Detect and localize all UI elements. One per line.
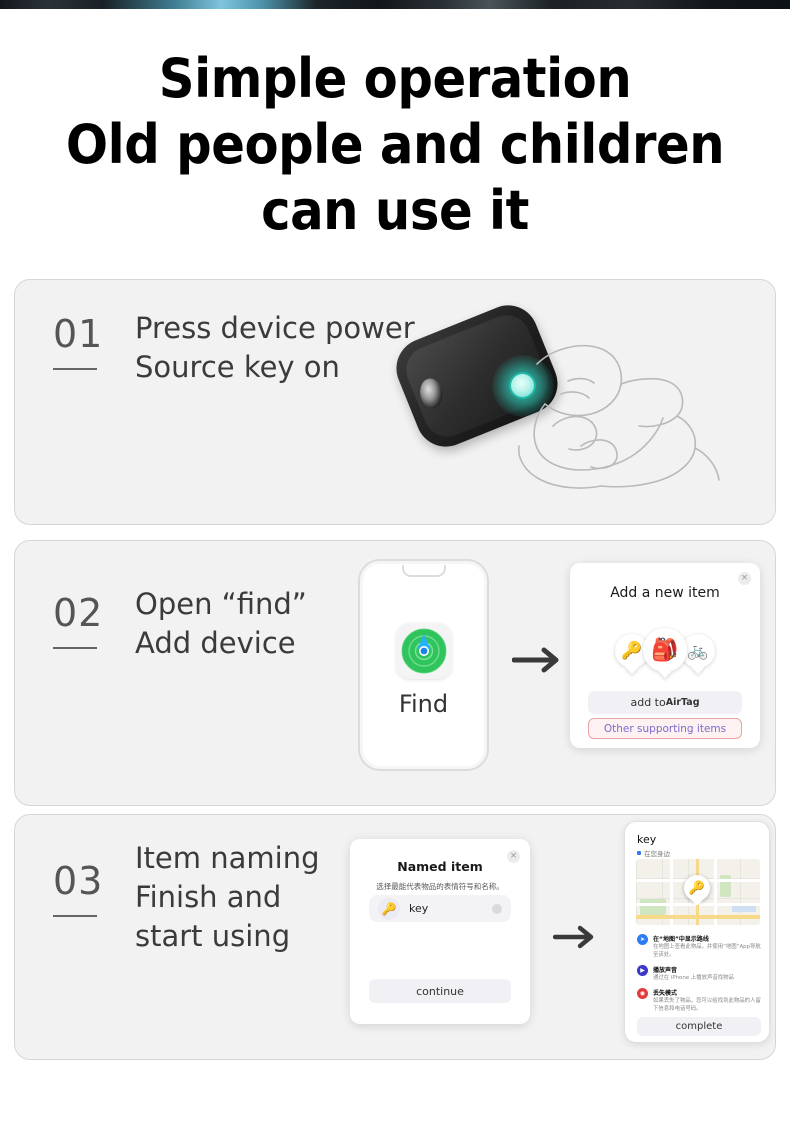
page-title: Simple operation Old people and children… bbox=[0, 52, 790, 238]
step-rule-02 bbox=[53, 647, 97, 649]
hand-outline-icon bbox=[385, 298, 765, 513]
lost-mode-icon: ◉ bbox=[637, 988, 648, 999]
named-item-dialog: × Named item 选择最能代表物品的表情符号和名称。 🔑 key con… bbox=[350, 839, 530, 1024]
arrow-right-icon-03 bbox=[553, 925, 601, 949]
play-sound-icon: ▶ bbox=[637, 965, 648, 976]
add-item-title: Add a new item bbox=[570, 585, 760, 601]
step-card-03: 03 Item naming Finish and start using × … bbox=[14, 814, 776, 1060]
top-image-strip bbox=[0, 0, 790, 9]
named-item-title: Named item bbox=[350, 859, 530, 874]
map-water-area bbox=[732, 905, 756, 912]
option-directions[interactable]: ➤ 在“地图”中显示路线 在地图上查看此物品，并使用“地图”App导航至该处。 bbox=[637, 934, 761, 959]
map-item-pin[interactable]: 🔑 bbox=[684, 875, 710, 901]
add-to-airtag-button[interactable]: add to AirTag bbox=[588, 691, 742, 714]
map-park-area bbox=[640, 899, 666, 915]
map-thumbnail[interactable]: 🔑 bbox=[636, 859, 760, 925]
airtag-brand-label: AirTag bbox=[666, 697, 700, 708]
step-card-01: 01 Press device power Source key on bbox=[14, 279, 776, 525]
page-title-line-1: Simple operation bbox=[32, 52, 759, 106]
step-rule-03 bbox=[53, 915, 97, 917]
found-item-title: key bbox=[637, 833, 656, 846]
item-name-value: key bbox=[409, 902, 428, 915]
option-lost-mode[interactable]: ◉ 丢失模式 如果丢失了物品，您可以给找到此物品的人留下信息和电话号码。 bbox=[637, 988, 761, 1013]
named-item-subtitle: 选择最能代表物品的表情符号和名称。 bbox=[350, 881, 530, 892]
tracker-hand-illustration bbox=[385, 298, 765, 513]
option-play-sound[interactable]: ▶ 播放声音 通过在 iPhone 上播放声音找物品 bbox=[637, 965, 761, 982]
found-item-status: 在您身边 bbox=[637, 848, 670, 858]
add-new-item-dialog: × Add a new item 🔑 🚲 🎒 add to AirTag Oth… bbox=[570, 563, 760, 748]
add-to-airtag-prefix: add to bbox=[630, 696, 665, 709]
item-type-bubbles: 🔑 🚲 🎒 bbox=[605, 627, 725, 677]
item-bubble-backpack[interactable]: 🎒 bbox=[643, 628, 687, 672]
step-number-03: 03 bbox=[53, 859, 103, 903]
phone-mockup: Find bbox=[358, 559, 489, 771]
found-item-status-label: 在您身边 bbox=[644, 848, 670, 858]
option-lost-mode-detail: 如果丢失了物品，您可以给找到此物品的人留下信息和电话号码。 bbox=[653, 997, 761, 1013]
item-name-input[interactable]: 🔑 key bbox=[369, 895, 511, 922]
continue-button[interactable]: continue bbox=[369, 979, 511, 1003]
close-icon-add-item[interactable]: × bbox=[738, 572, 751, 585]
option-directions-detail: 在地图上查看此物品，并使用“地图”App导航至该处。 bbox=[653, 943, 761, 959]
step-text-02: Open “find” Add device bbox=[135, 585, 385, 663]
clear-input-icon[interactable] bbox=[492, 904, 502, 914]
complete-button[interactable]: complete bbox=[637, 1017, 761, 1036]
page-title-line-3: can use it bbox=[32, 184, 759, 238]
page-title-line-2: Old people and children bbox=[32, 118, 759, 172]
key-emoji-icon: 🔑 bbox=[378, 898, 400, 920]
status-dot-icon bbox=[637, 851, 641, 855]
phone-notch bbox=[402, 565, 446, 577]
other-supporting-items-button[interactable]: Other supporting items bbox=[588, 718, 742, 739]
option-lost-mode-heading: 丢失模式 bbox=[653, 988, 761, 997]
step-text-03: Item naming Finish and start using bbox=[135, 839, 355, 956]
option-play-sound-heading: 播放声音 bbox=[653, 965, 734, 974]
find-my-icon[interactable] bbox=[396, 623, 452, 679]
step-number-01: 01 bbox=[53, 312, 103, 356]
item-found-panel: key 在您身边 🔑 ➤ 在“地图”中显示路线 bbox=[624, 821, 770, 1043]
step-rule-01 bbox=[53, 368, 97, 370]
option-play-sound-detail: 通过在 iPhone 上播放声音找物品 bbox=[653, 974, 734, 982]
step-card-02: 02 Open “find” Add device Find bbox=[14, 540, 776, 806]
promo-page: Simple operation Old people and children… bbox=[0, 0, 790, 1128]
directions-icon: ➤ bbox=[637, 934, 648, 945]
find-app-label: Find bbox=[360, 690, 487, 718]
arrow-right-icon-02 bbox=[512, 646, 568, 674]
option-directions-heading: 在“地图”中显示路线 bbox=[653, 934, 761, 943]
step-number-02: 02 bbox=[53, 591, 103, 635]
